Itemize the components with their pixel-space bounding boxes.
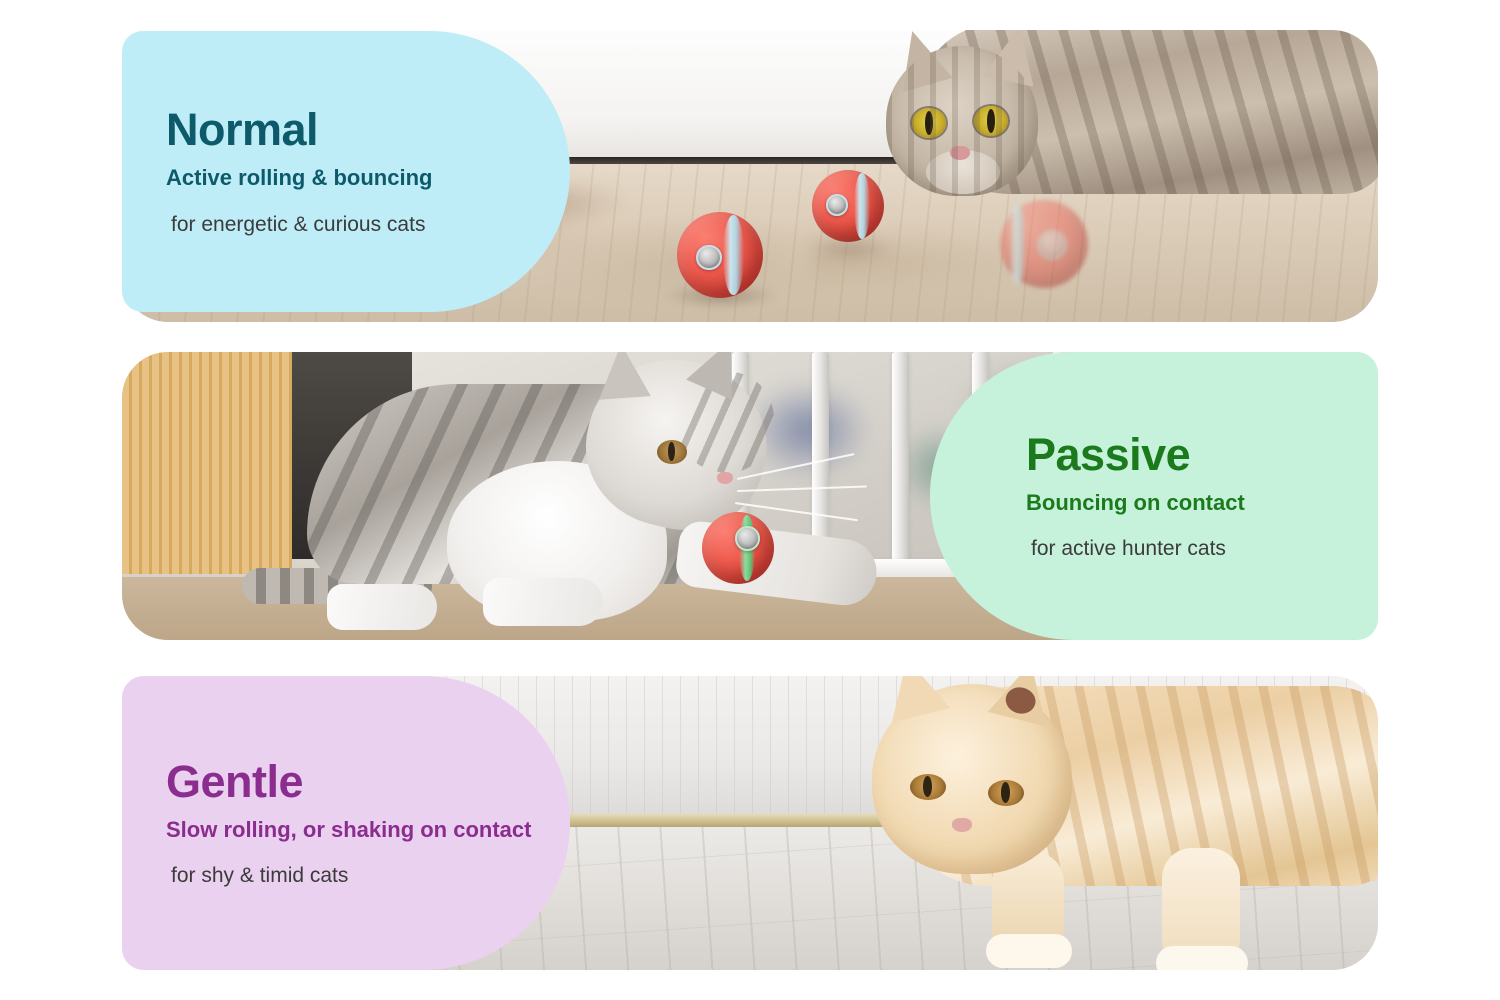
toy-ball-front <box>677 212 763 298</box>
cat-nose <box>952 818 972 832</box>
ball-button-icon <box>826 194 848 216</box>
cat-paw-rear <box>1156 946 1248 970</box>
cat-eye-right <box>988 780 1024 806</box>
cat-ear-left <box>595 352 651 400</box>
cat-eye-left <box>912 108 946 138</box>
ball-button-icon <box>735 526 759 550</box>
ball-shadow <box>805 239 897 258</box>
cat-nose <box>717 472 733 484</box>
mode-title-gentle: Gentle <box>166 759 570 804</box>
mode-card-passive[interactable]: Passive Bouncing on contact for active h… <box>930 352 1378 640</box>
cat-grey-white-playing <box>297 356 917 636</box>
mode-note-passive: for active hunter cats <box>1026 537 1378 560</box>
cat-paw-front <box>986 934 1072 968</box>
toy-ball-mid <box>812 170 884 242</box>
cat-ear-left <box>887 30 952 92</box>
mode-subtitle-gentle: Slow rolling, or shaking on contact <box>166 818 570 842</box>
cat-paw-rear <box>327 584 437 630</box>
mode-title-passive: Passive <box>1026 432 1378 477</box>
mode-card-gentle[interactable]: Gentle Slow rolling, or shaking on conta… <box>122 676 570 970</box>
cat-eye-right <box>974 106 1008 136</box>
ball-light-stripe <box>723 215 744 294</box>
cat-head <box>886 46 1038 196</box>
mode-subtitle-normal: Active rolling & bouncing <box>166 166 570 190</box>
cat-tabby-lying <box>868 30 1378 214</box>
modes-page: Normal Active rolling & bouncing for ene… <box>0 0 1500 1000</box>
ball-light-stripe <box>854 173 870 239</box>
cat-muzzle <box>926 150 1000 194</box>
toy-ball-passive <box>702 512 774 584</box>
ball-button-icon <box>1037 230 1067 260</box>
ball-sphere <box>702 512 774 584</box>
mode-note-normal: for energetic & curious cats <box>166 213 570 236</box>
mode-card-normal[interactable]: Normal Active rolling & bouncing for ene… <box>122 31 570 312</box>
cat-eye <box>657 440 687 464</box>
mode-note-gentle: for shy & timid cats <box>166 864 570 887</box>
ball-button-icon <box>696 245 722 271</box>
cat-eye-left <box>910 774 946 800</box>
wooden-door-frame <box>122 352 292 574</box>
ball-sphere <box>812 170 884 242</box>
cat-paw-hind <box>483 578 603 626</box>
cat-orange-kitten <box>742 676 1378 962</box>
mode-title-normal: Normal <box>166 107 570 152</box>
cat-nose <box>950 146 970 160</box>
mode-subtitle-passive: Bouncing on contact <box>1026 491 1378 515</box>
